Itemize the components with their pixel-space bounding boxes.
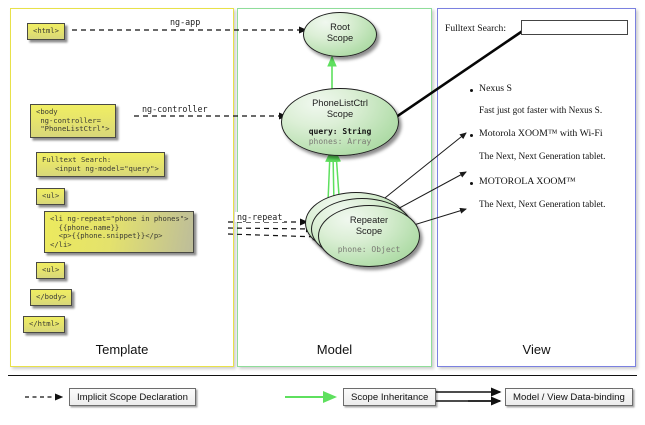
view-item-snippet-1: Fast just got faster with Nexus S. bbox=[479, 106, 602, 116]
code-box-body-close: </body> bbox=[30, 289, 72, 306]
code-box-search-input: Fulltext Search: <input ng-model="query"… bbox=[36, 152, 165, 177]
column-label-model: Model bbox=[238, 342, 431, 357]
code-box-li-ng-repeat: <li ng-repeat="phone in phones"> {{phone… bbox=[44, 211, 194, 253]
scope-root: Root Scope bbox=[303, 12, 377, 57]
view-item-name-1: Nexus S bbox=[479, 83, 512, 94]
edge-label-ng-app: ng-app bbox=[168, 17, 202, 27]
code-box-html-close: </html> bbox=[23, 316, 65, 333]
view-search-input[interactable] bbox=[521, 20, 628, 35]
view-bullet-2 bbox=[470, 134, 473, 137]
view-bullet-3 bbox=[470, 182, 473, 185]
view-item-name-3: MOTOROLA XOOM™ bbox=[479, 176, 576, 187]
scope-repeater-title: Repeater Scope bbox=[319, 206, 419, 237]
legend-scope-inheritance: Scope Inheritance bbox=[343, 388, 436, 406]
scope-root-title: Root Scope bbox=[304, 13, 376, 44]
column-label-template: Template bbox=[11, 342, 233, 357]
edge-label-ng-repeat: ng-repeat bbox=[235, 212, 284, 222]
legend-model-view-data-binding: Model / View Data-binding bbox=[505, 388, 633, 406]
scope-repeater: Repeater Scope phone: Object bbox=[318, 205, 420, 267]
scope-prop-phone: phone: Object bbox=[319, 245, 419, 255]
column-label-view: View bbox=[438, 342, 635, 357]
view-item-snippet-2: The Next, Next Generation tablet. bbox=[479, 152, 606, 162]
code-box-html-open: <html> bbox=[27, 23, 65, 40]
view-item-snippet-3: The Next, Next Generation tablet. bbox=[479, 200, 606, 210]
scope-prop-query: query: String bbox=[282, 127, 398, 137]
view-bullet-1 bbox=[470, 89, 473, 92]
scope-prop-phones: phones: Array bbox=[282, 137, 398, 147]
code-box-ul-close: <ul> bbox=[36, 262, 65, 279]
column-view: View bbox=[437, 8, 636, 367]
legend-implicit-scope-declaration: Implicit Scope Declaration bbox=[69, 388, 196, 406]
code-box-ul-open: <ul> bbox=[36, 188, 65, 205]
scope-phone-list-ctrl: PhoneListCtrl Scope query: String phones… bbox=[281, 88, 399, 156]
scope-phone-list-ctrl-title: PhoneListCtrl Scope bbox=[282, 89, 398, 120]
legend-divider bbox=[8, 375, 637, 376]
edge-label-ng-controller: ng-controller bbox=[140, 104, 210, 114]
view-item-name-2: Motorola XOOM™ with Wi-Fi bbox=[479, 128, 603, 139]
view-search-label: Fulltext Search: bbox=[445, 23, 506, 34]
column-model: Model bbox=[237, 8, 432, 367]
code-box-body-open: <body ng-controller= "PhoneListCtrl"> bbox=[30, 104, 116, 138]
